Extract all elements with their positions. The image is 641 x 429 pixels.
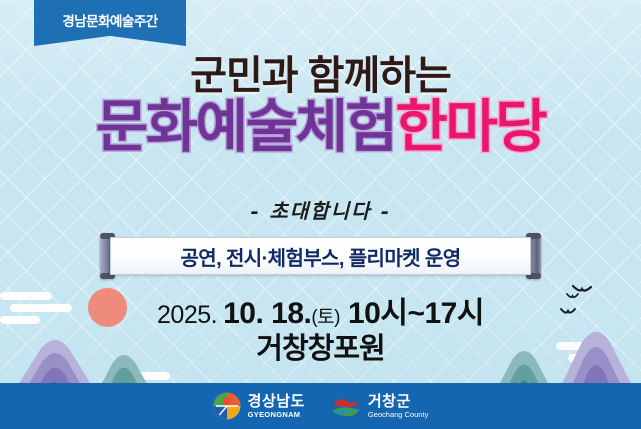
headline-line-1: 군민과 함께하는 (0, 56, 641, 96)
scroll-banner: 공연, 전시·체험부스, 플리마켓 운영 (100, 233, 541, 279)
logo-label-en: GYEONGNAM (248, 411, 305, 419)
event-poster: 경상남도 GYEONGNAM 거창군 Geochang County 경남문화예… (0, 0, 641, 429)
logo-gyeongnam: 경상남도 GYEONGNAM (213, 392, 305, 420)
ribbon-label: 경남문화예술주간 (62, 10, 157, 30)
footer-logo-row: 경상남도 GYEONGNAM 거창군 Geochang County (0, 383, 641, 429)
logo-geochang: 거창군 Geochang County (331, 394, 428, 419)
geochang-emblem-icon (331, 394, 361, 418)
invite-text: - 초대합니다 - (0, 195, 641, 224)
headline-segment-pink: 한마당 (395, 95, 545, 159)
event-venue: 거창창포원 (0, 325, 641, 367)
headline-line-2: 문화예술체험한마당 (0, 98, 641, 158)
scroll-paper: 공연, 전시·체험부스, 플리마켓 운영 (110, 237, 531, 275)
logo-label-en: Geochang County (368, 411, 428, 419)
headline-block: 군민과 함께하는 문화예술체험한마당 (0, 56, 641, 158)
gyeongnam-emblem-icon (213, 392, 241, 420)
logo-label-kr: 거창군 (368, 394, 428, 409)
logo-label-kr: 경상남도 (248, 394, 305, 409)
program-summary-text: 공연, 전시·체험부스, 플리마켓 운영 (180, 242, 460, 271)
headline-segment-purple: 문화예술체험 (96, 95, 396, 159)
